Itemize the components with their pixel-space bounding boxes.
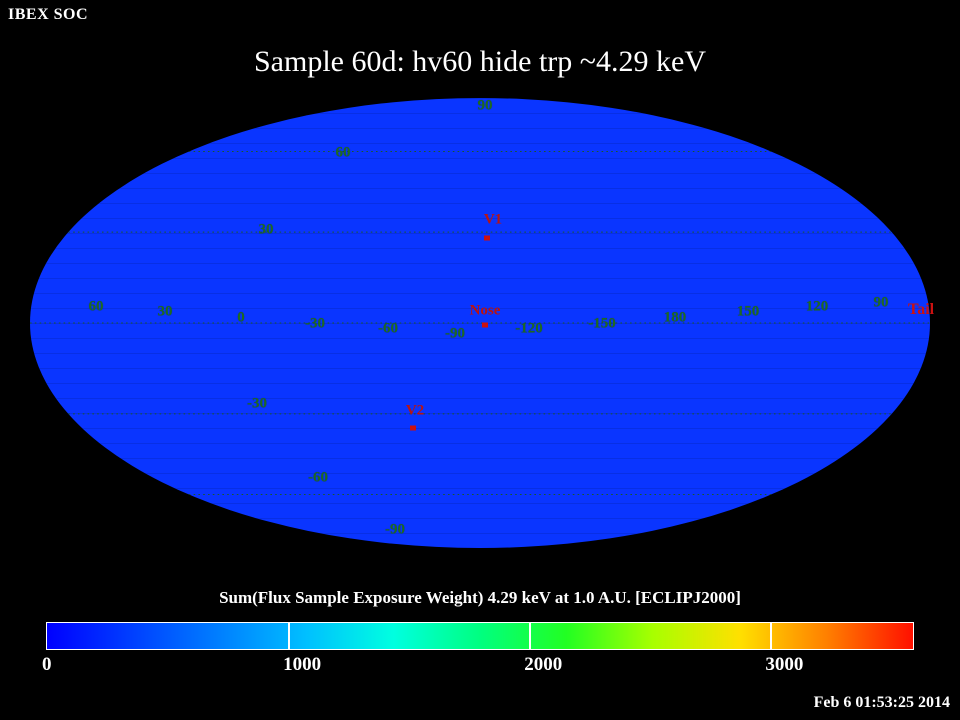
longitude-label-90: 90	[874, 295, 889, 312]
colorbar-gradient	[47, 623, 913, 649]
longitude-label-180: 180	[664, 310, 687, 327]
marker-label-v2: V2	[406, 403, 424, 420]
marker-label-nose: Nose	[470, 303, 501, 320]
colorbar-tick-label-3000: 3000	[765, 654, 803, 676]
page-title: Sample 60d: hv60 hide trp ~4.29 keV	[0, 45, 960, 79]
longitude-label-30: 30	[158, 304, 173, 321]
ibex-soc-logo: IBEX SOC	[8, 6, 88, 24]
mollweide-ellipse	[30, 98, 930, 548]
longitude-label--120: -120	[515, 321, 543, 338]
colorbar-caption: Sum(Flux Sample Exposure Weight) 4.29 ke…	[0, 588, 960, 608]
colorbar-tick-label-0: 0	[42, 654, 52, 676]
colorbar-tick-2000	[529, 623, 531, 649]
marker-dot-v2	[410, 426, 416, 431]
colorbar[interactable]	[46, 622, 914, 650]
latitude-label--30: -30	[247, 396, 267, 413]
ibex-allsky-map-screen: IBEX SOC Sample 60d: hv60 hide trp ~4.29…	[0, 0, 960, 720]
latitude-label--60: -60	[308, 470, 328, 487]
longitude-label-120: 120	[806, 299, 829, 316]
pole-label-90: 90	[478, 98, 493, 115]
marker-dot-nose	[482, 323, 488, 328]
longitude-label-60: 60	[89, 299, 104, 316]
longitude-label--60: -60	[378, 321, 398, 338]
allsky-map[interactable]: 60300-30-60-90-120-150180150120906030-30…	[30, 98, 930, 548]
colorbar-tick-label-1000: 1000	[283, 654, 321, 676]
marker-dot-v1	[484, 236, 490, 241]
longitude-label--150: -150	[588, 316, 616, 333]
colorbar-tick-3000	[770, 623, 772, 649]
longitude-label--90: -90	[445, 326, 465, 343]
longitude-label-150: 150	[737, 304, 760, 321]
latitude-label-60: 60	[336, 145, 351, 162]
tail-label: Tail	[908, 301, 934, 319]
graticule-layer	[30, 98, 930, 548]
longitude-label--30: -30	[305, 316, 325, 333]
longitude-label-0: 0	[237, 310, 245, 327]
latitude-label-30: 30	[259, 222, 274, 239]
colorbar-tick-label-2000: 2000	[524, 654, 562, 676]
marker-label-v1: V1	[484, 212, 502, 229]
timestamp: Feb 6 01:53:25 2014	[814, 694, 950, 712]
pole-label--90: -90	[385, 522, 405, 539]
colorbar-tick-1000	[288, 623, 290, 649]
